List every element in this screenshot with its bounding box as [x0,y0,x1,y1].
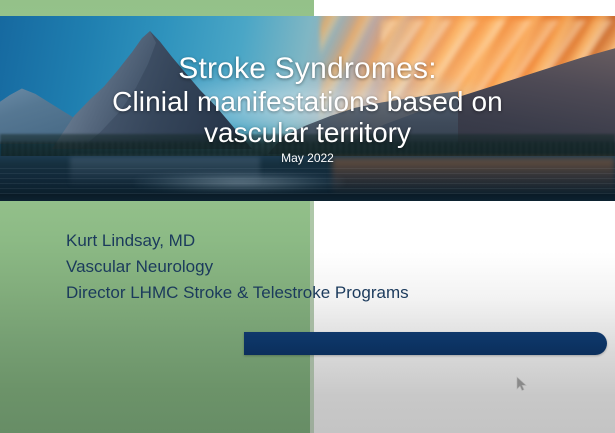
title-banner-photo [0,16,615,201]
mouse-pointer-icon [516,376,528,392]
presentation-slide: Stroke Syndromes: Clinial manifestations… [0,0,615,433]
accent-bar [244,332,607,355]
presenter-role: Director LHMC Stroke & Telestroke Progra… [66,280,409,306]
lake-ripple-layer [0,164,615,198]
presenter-name: Kurt Lindsay, MD [66,228,409,254]
presenter-info-block: Kurt Lindsay, MD Vascular Neurology Dire… [66,228,409,306]
foreground-shore-layer [0,194,615,201]
presenter-specialty: Vascular Neurology [66,254,409,280]
